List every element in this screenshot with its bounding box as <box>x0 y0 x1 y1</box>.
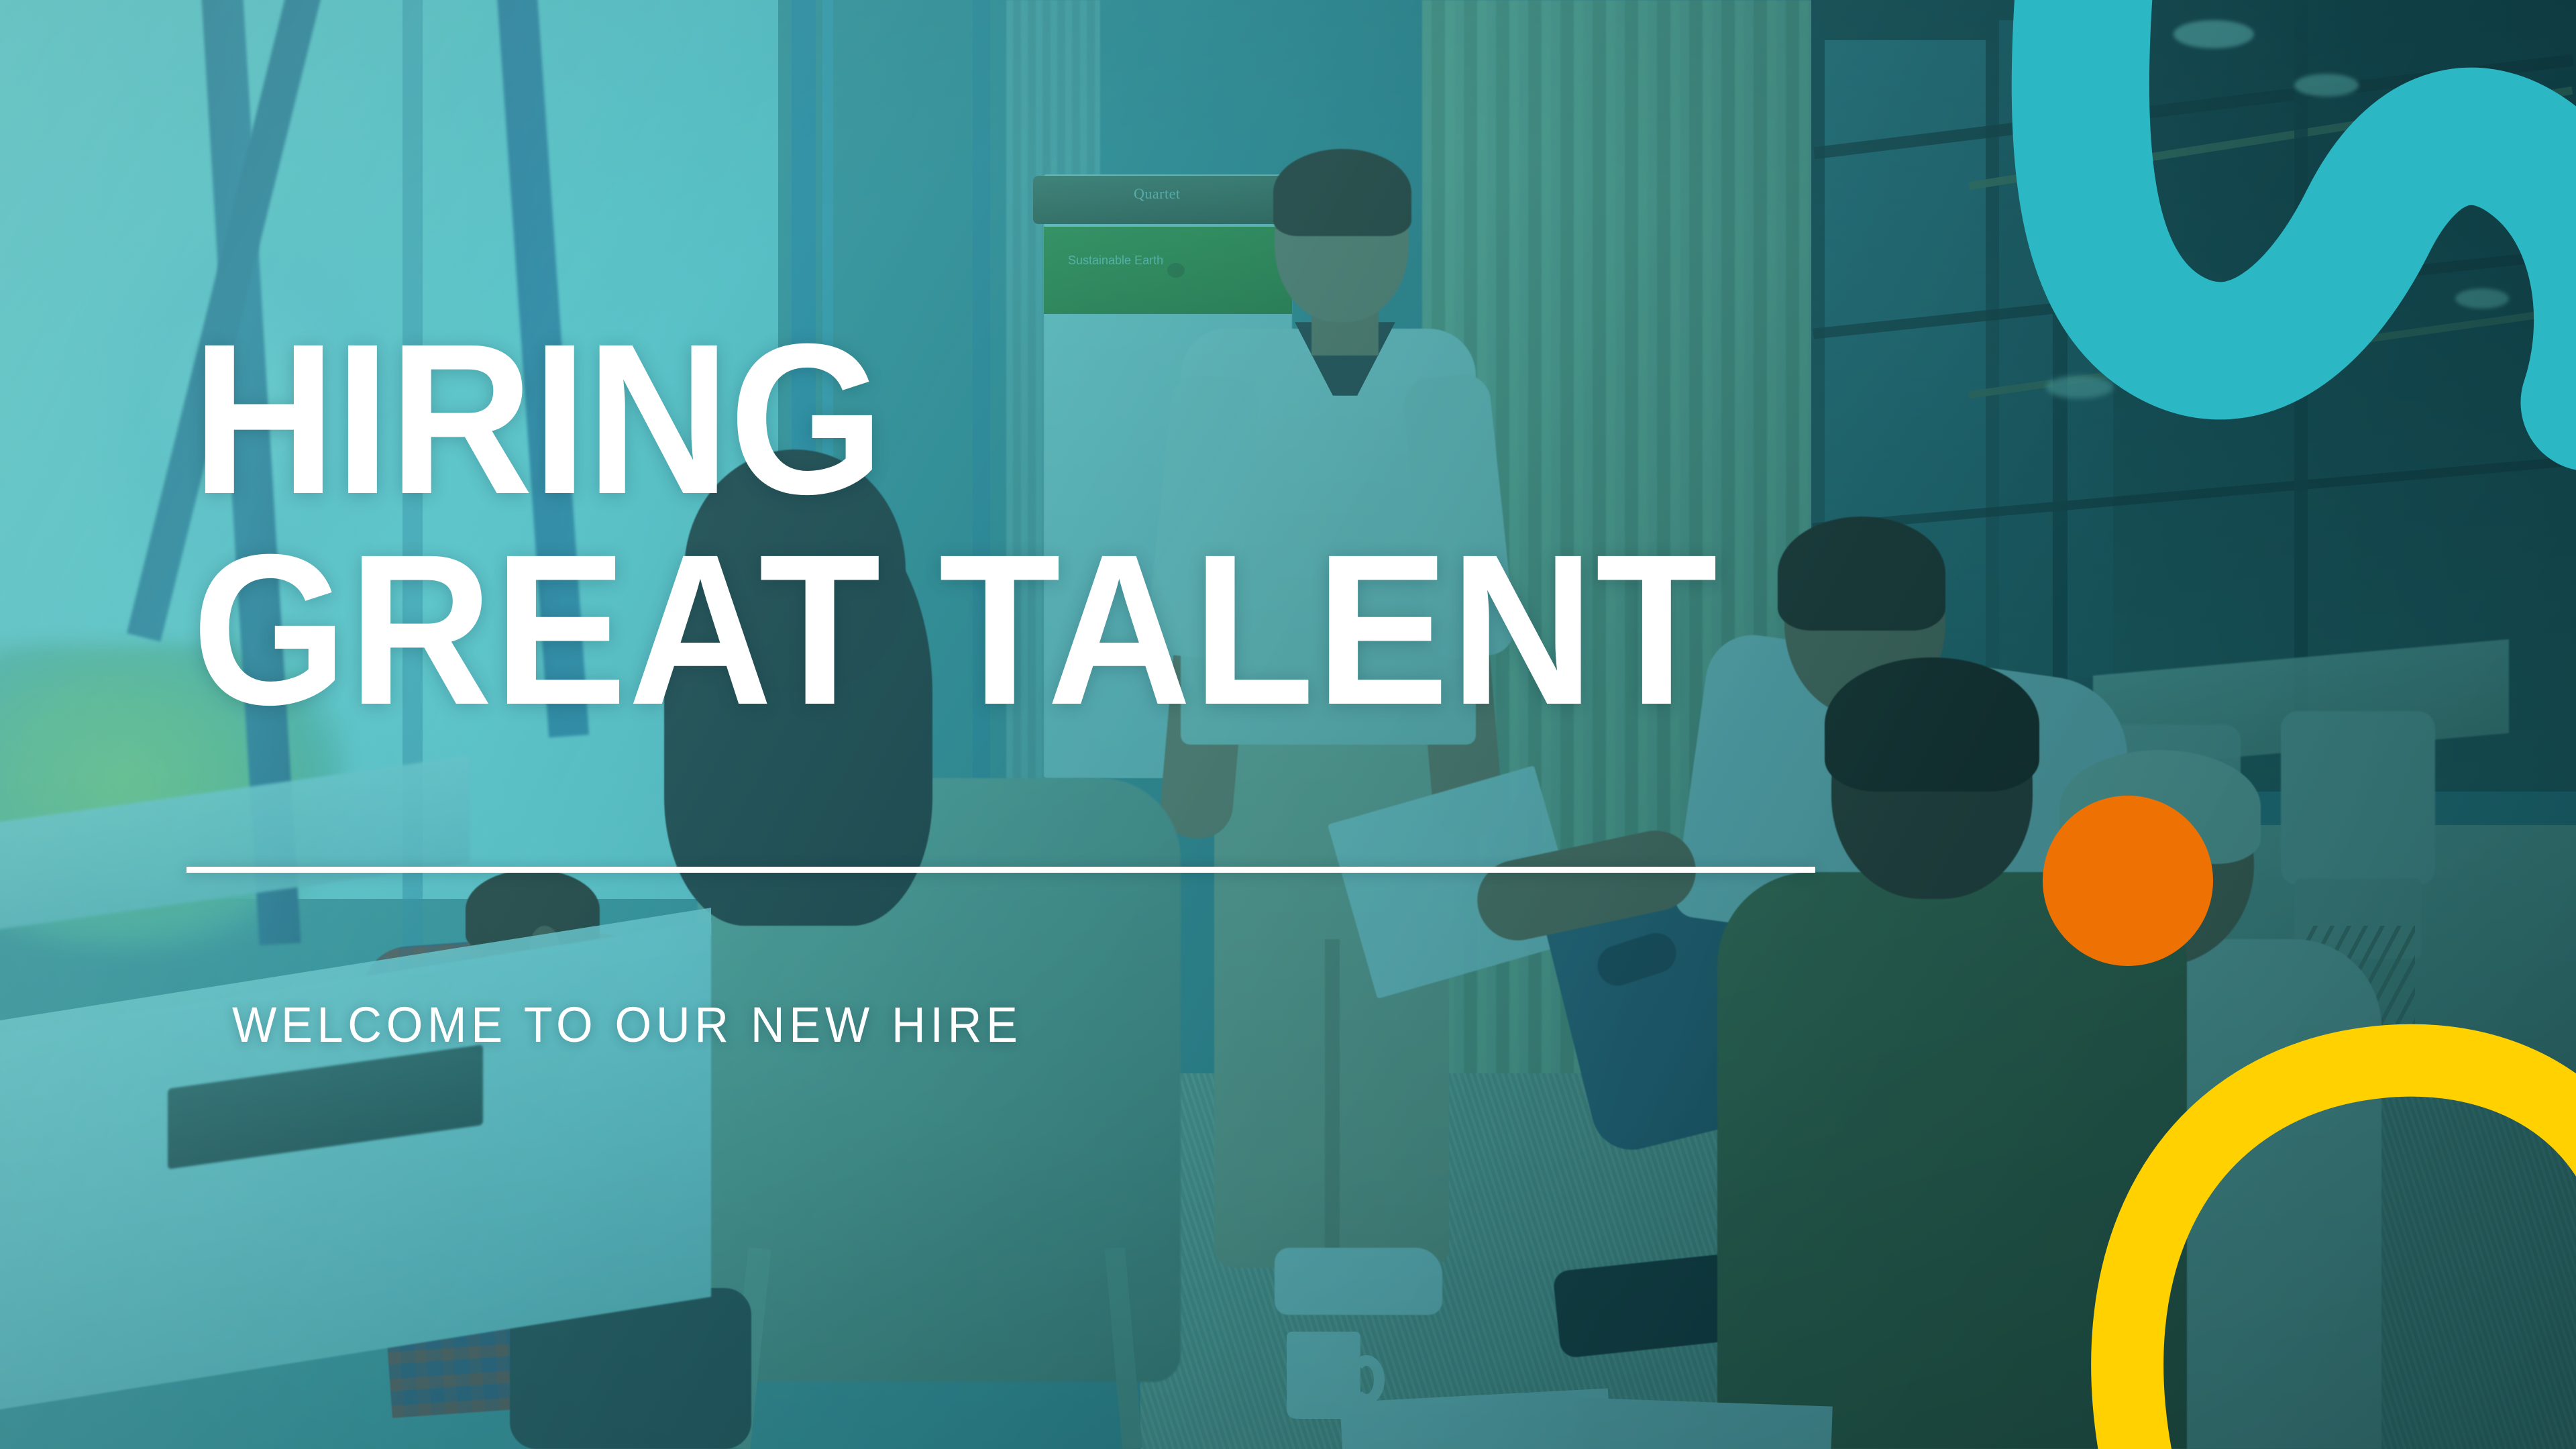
title-line-2: GREAT TALENT <box>192 525 1719 735</box>
subtitle: WELCOME TO OUR NEW HIRE <box>232 996 1022 1053</box>
banner-content: HIRING GREAT TALENT WELCOME TO OUR NEW H… <box>0 0 2576 1449</box>
hiring-banner: Quartet Sustainable Earth <box>0 0 2576 1449</box>
page-title: HIRING GREAT TALENT <box>192 314 1719 735</box>
title-line-1: HIRING <box>192 314 1719 525</box>
divider-rule <box>186 867 1815 873</box>
